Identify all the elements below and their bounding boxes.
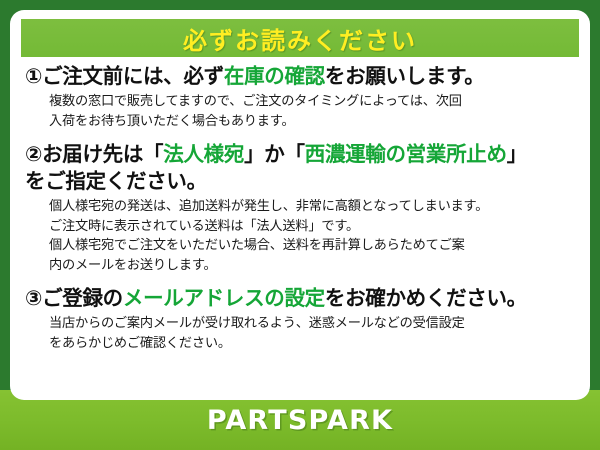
page-title: 必ずお読みください bbox=[183, 21, 417, 56]
notice-number-3: ③ bbox=[25, 286, 42, 310]
notice-item-3: ③ご登録のメールアドレスの設定をお確かめください。 当店からのご案内メールが受け… bbox=[25, 285, 575, 354]
notice-heading-3: ③ご登録のメールアドレスの設定をお確かめください。 bbox=[25, 285, 575, 312]
notice-detail-1: 複数の窓口で販売してますので、ご注文のタイミングによっては、次回 入荷をお待ち頂… bbox=[25, 92, 575, 132]
plain-text: 」 bbox=[507, 142, 527, 166]
notice-heading-text-3: ご登録のメールアドレスの設定をお確かめください。 bbox=[42, 286, 527, 310]
detail-line: ご注文時に表示されている送料は「法人送料」です。 bbox=[49, 217, 575, 237]
notice-heading-2: ②お届け先は「法人様宛」か「西濃運輸の営業所止め」 bbox=[25, 141, 575, 168]
notice-number-2: ② bbox=[25, 142, 42, 166]
content-panel: 必ずお読みください ①ご注文前には、必ず在庫の確認をお願いします。 複数の窓口で… bbox=[10, 10, 590, 400]
plain-text: をお確かめください。 bbox=[325, 286, 527, 310]
header-bar: 必ずお読みください bbox=[21, 19, 579, 57]
notice-detail-3: 当店からのご案内メールが受け取れるよう、迷惑メールなどの受信設定 をあらかじめご… bbox=[25, 314, 575, 354]
notice-heading-1: ①ご注文前には、必ず在庫の確認をお願いします。 bbox=[25, 63, 575, 90]
notice-item-2: ②お届け先は「法人様宛」か「西濃運輸の営業所止め」 をご指定ください。 個人様宅… bbox=[25, 141, 575, 276]
detail-line: 入荷をお待ち頂いただく場合もあります。 bbox=[49, 112, 575, 132]
plain-text: ご注文前には、必ず bbox=[42, 64, 224, 88]
plain-text: 」か「 bbox=[244, 142, 305, 166]
notice-detail-2: 個人様宅宛の発送は、追加送料が発生し、非常に高額となってしまいます。 ご注文時に… bbox=[25, 197, 575, 276]
detail-line: 個人様宅宛の発送は、追加送料が発生し、非常に高額となってしまいます。 bbox=[49, 197, 575, 217]
plain-text: をお願いします。 bbox=[325, 64, 485, 88]
detail-line: 当店からのご案内メールが受け取れるよう、迷惑メールなどの受信設定 bbox=[49, 314, 575, 334]
notice-heading-text-2: お届け先は「法人様宛」か「西濃運輸の営業所止め」 bbox=[42, 142, 527, 166]
notice-list: ①ご注文前には、必ず在庫の確認をお願いします。 複数の窓口で販売してますので、ご… bbox=[21, 57, 579, 354]
brand-wordmark: PARTSPARK bbox=[207, 405, 393, 436]
emphasis-text: メールアドレスの設定 bbox=[123, 286, 325, 310]
emphasis-text: 西濃運輸の営業所止め bbox=[305, 142, 507, 166]
plain-text: ご登録の bbox=[42, 286, 123, 310]
emphasis-text: 在庫の確認 bbox=[224, 64, 325, 88]
plain-text: お届け先は「 bbox=[42, 142, 163, 166]
notice-heading-2-line2: をご指定ください。 bbox=[25, 168, 575, 195]
notice-frame: PARTSPARK 必ずお読みください ①ご注文前には、必ず在庫の確認をお願いし… bbox=[0, 0, 600, 450]
detail-line: 複数の窓口で販売してますので、ご注文のタイミングによっては、次回 bbox=[49, 92, 575, 112]
notice-item-1: ①ご注文前には、必ず在庫の確認をお願いします。 複数の窓口で販売してますので、ご… bbox=[25, 63, 575, 132]
detail-line: 個人様宅宛でご注文をいただいた場合、送料を再計算しあらためてご案 bbox=[49, 236, 575, 256]
notice-number-1: ① bbox=[25, 64, 42, 88]
notice-heading-text-1: ご注文前には、必ず在庫の確認をお願いします。 bbox=[42, 64, 484, 88]
detail-line: 内のメールをお送りします。 bbox=[49, 256, 575, 276]
detail-line: をあらかじめご確認ください。 bbox=[49, 334, 575, 354]
emphasis-text: 法人様宛 bbox=[163, 142, 244, 166]
